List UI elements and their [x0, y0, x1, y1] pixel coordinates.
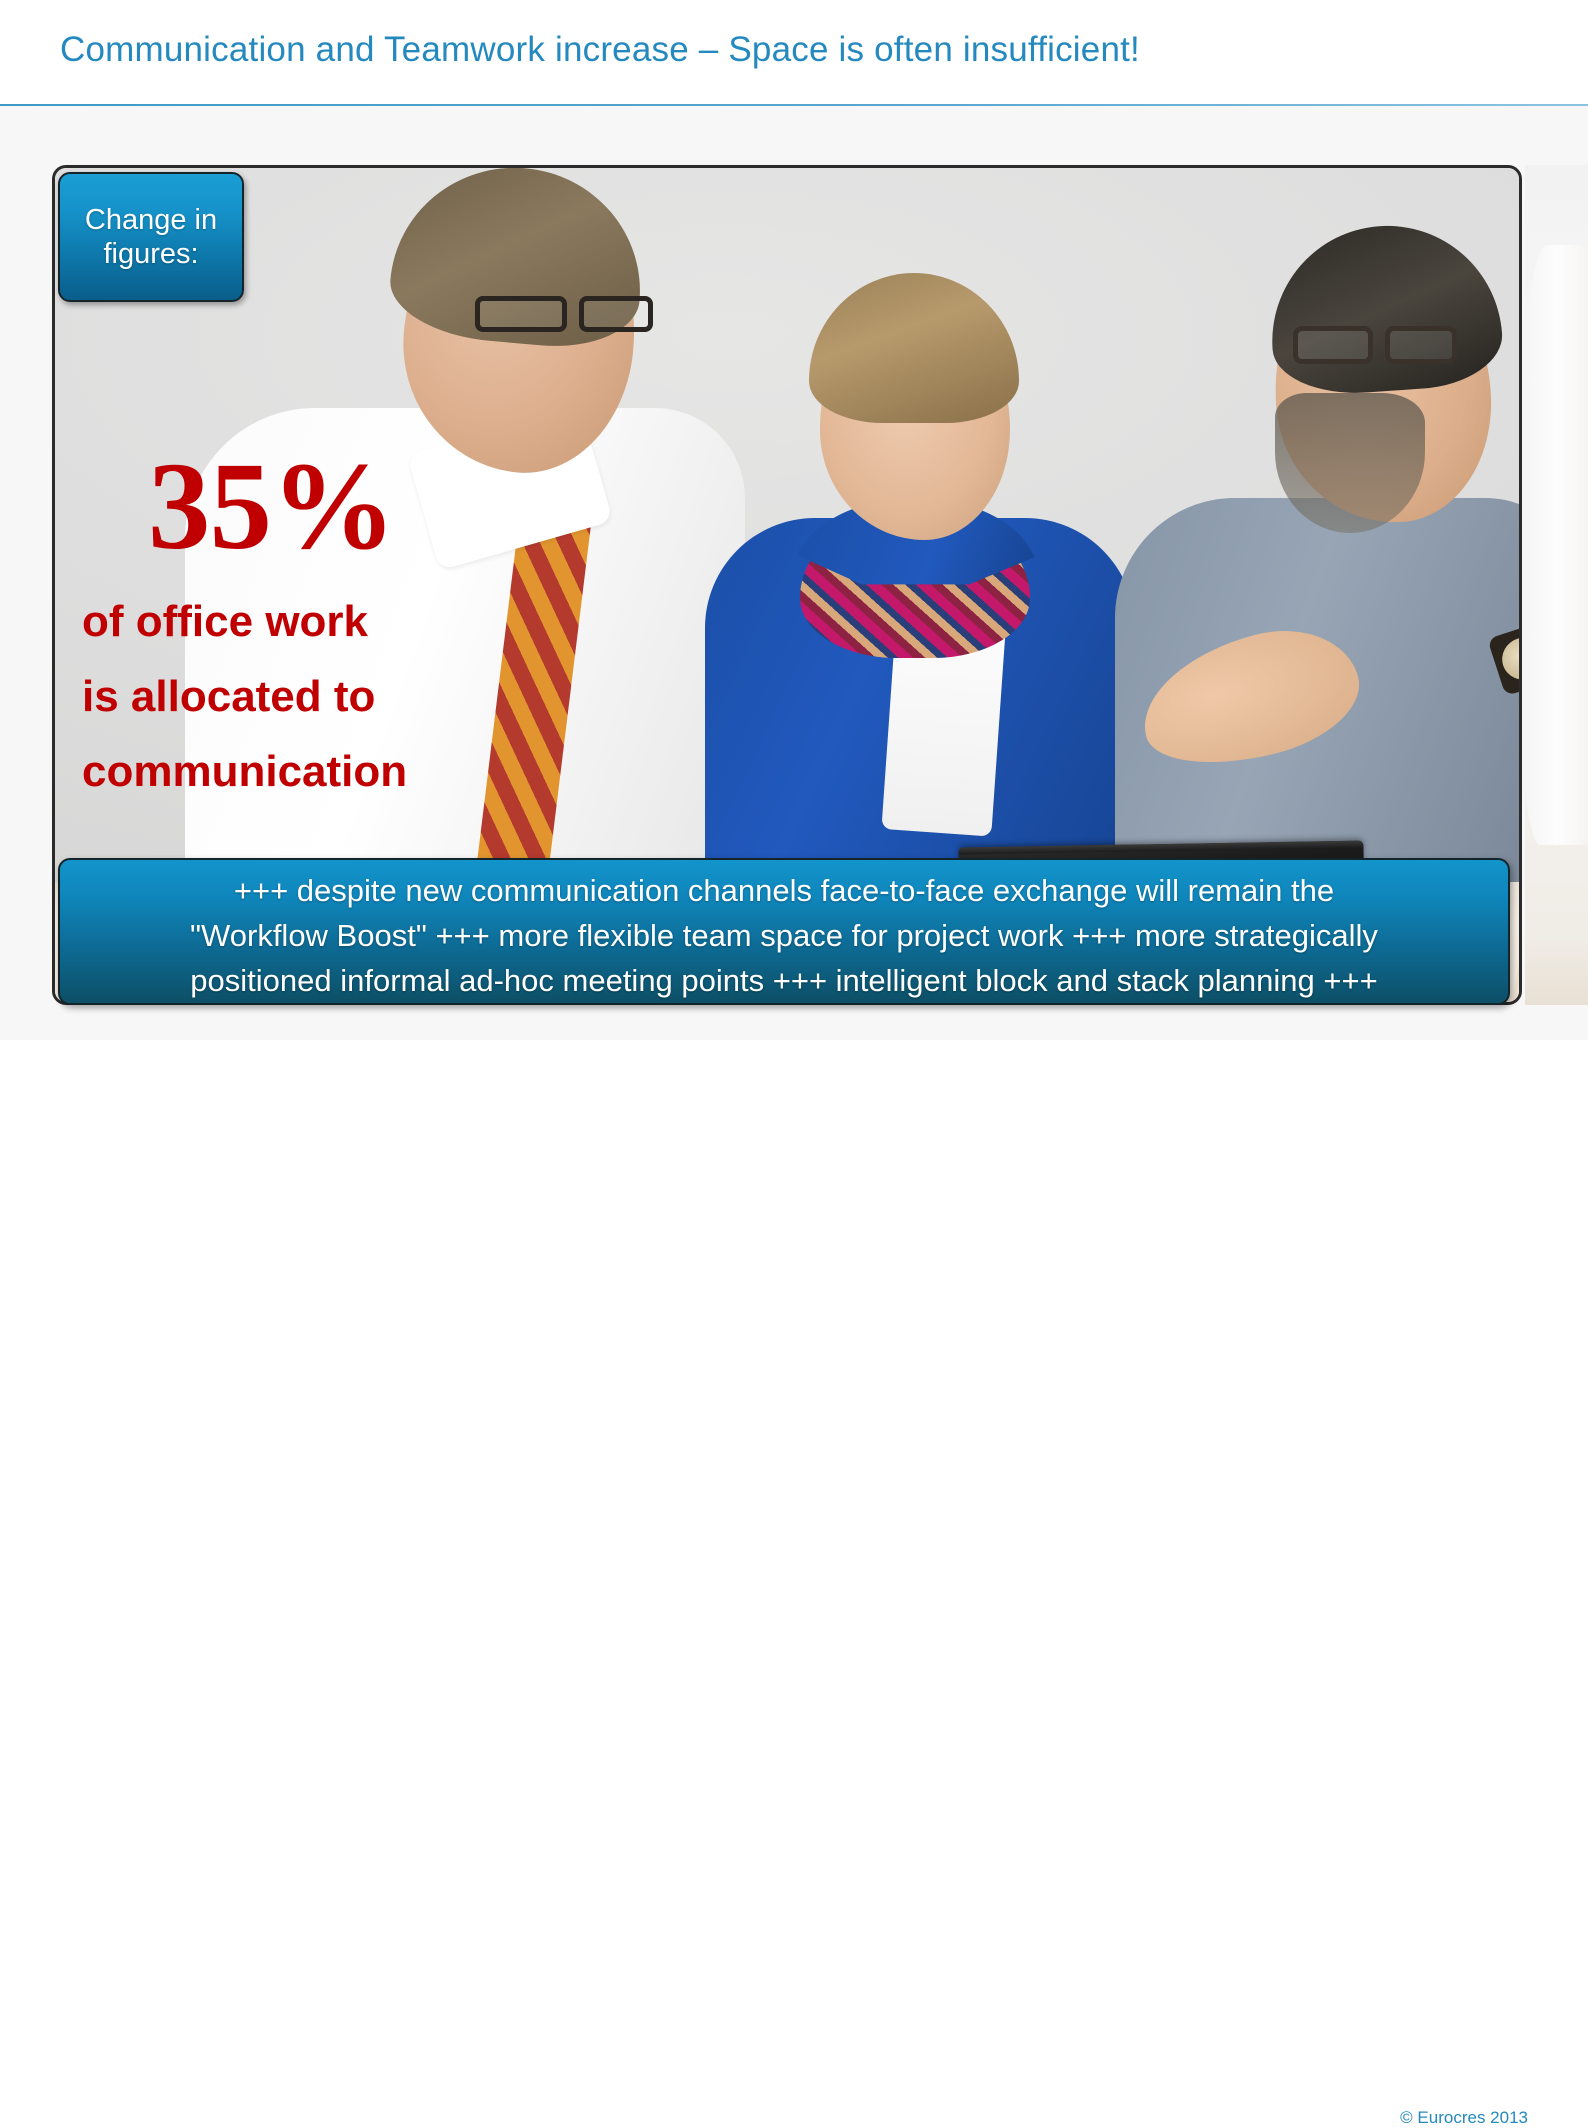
right-man-hair — [1265, 218, 1506, 399]
statistic-line-1: of office work — [82, 600, 368, 644]
photo-right-bleed — [1525, 165, 1588, 1005]
statistic-line-3: communication — [82, 750, 407, 794]
ticker-line-1: +++ despite new communication channels f… — [74, 868, 1494, 913]
slide-header: Communication and Teamwork increase – Sp… — [0, 0, 1588, 105]
change-badge-line-2: figures: — [85, 237, 217, 271]
copyright-notice: © Eurocres 2013 — [1400, 2108, 1528, 2128]
ticker-line-2: "Workflow Boost" +++ more flexible team … — [74, 913, 1494, 958]
change-in-figures-badge: Change in figures: — [58, 172, 244, 302]
right-man-glasses — [1293, 326, 1493, 362]
change-badge-label: Change in figures: — [85, 203, 217, 271]
left-man-glasses — [475, 296, 685, 332]
statistic-line-2: is allocated to — [82, 675, 375, 719]
page-title: Communication and Teamwork increase – Sp… — [60, 30, 1140, 70]
background-person — [1525, 245, 1588, 845]
center-woman-hair — [809, 273, 1019, 423]
slide-footer: © Eurocres 2013 — [0, 1040, 1588, 1123]
statistic-value: 35% — [148, 445, 395, 570]
change-badge-line-1: Change in — [85, 203, 217, 237]
news-ticker-banner: +++ despite new communication channels f… — [58, 858, 1510, 1005]
ticker-line-3: positioned informal ad-hoc meeting point… — [74, 958, 1494, 1003]
